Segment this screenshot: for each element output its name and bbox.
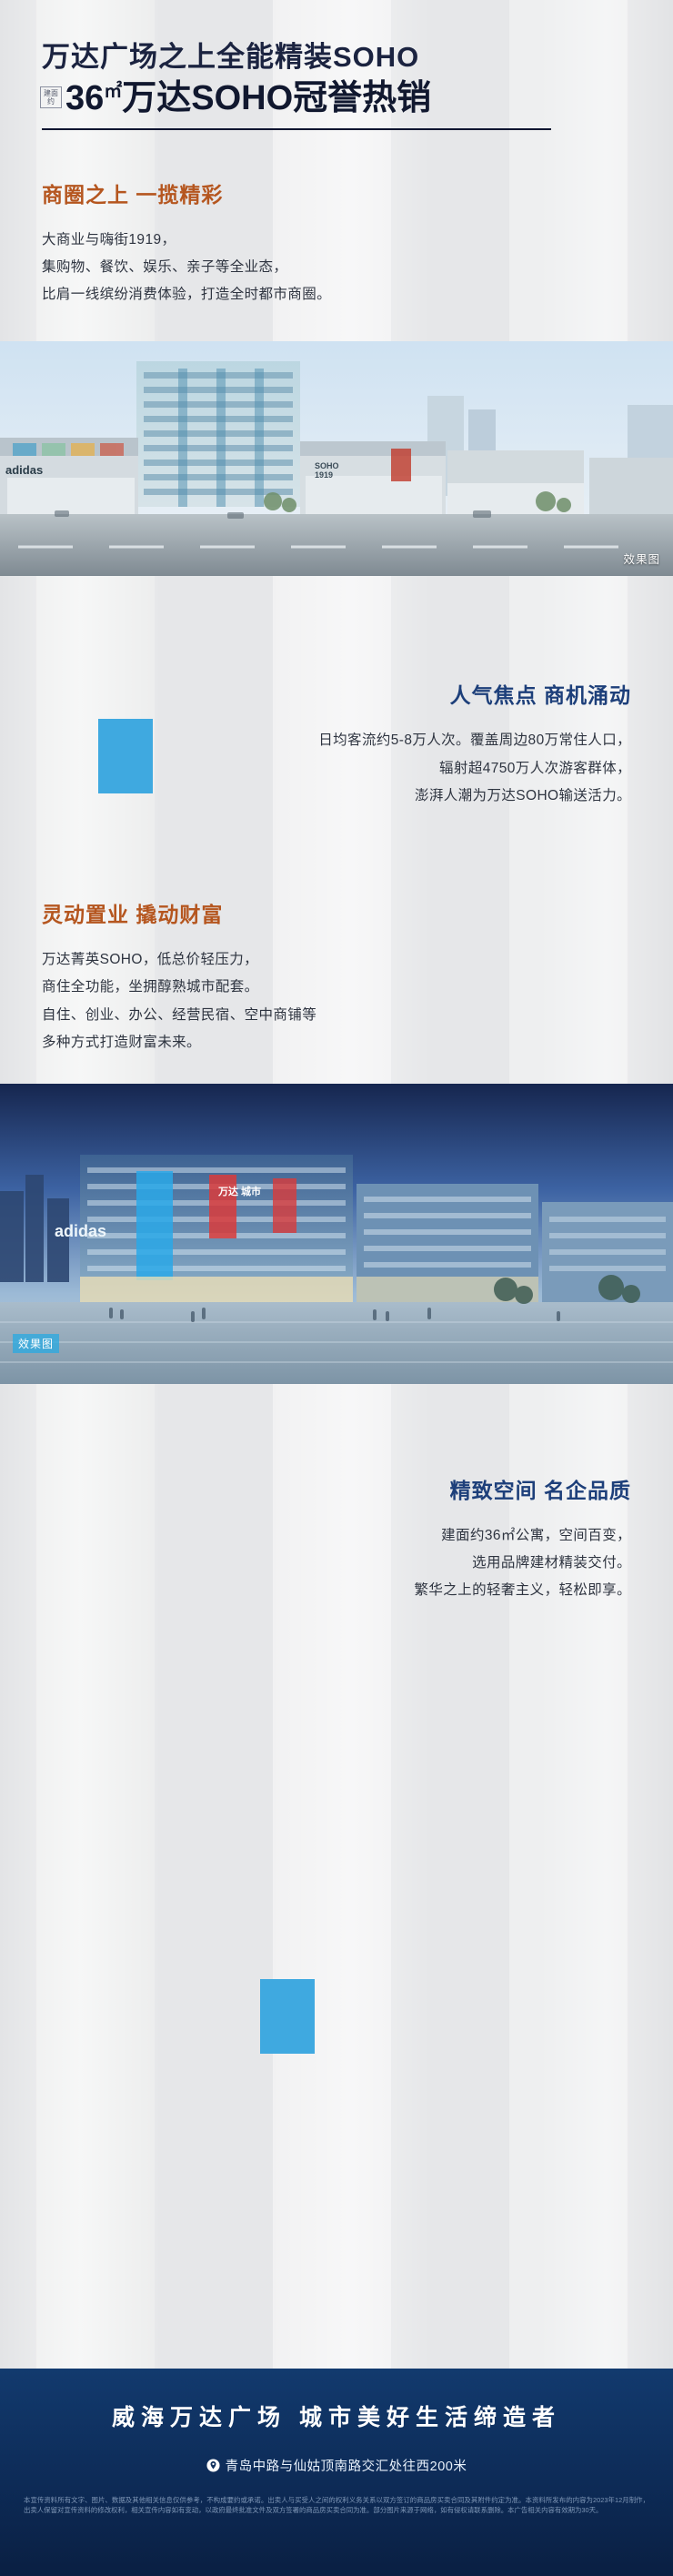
area-badge-line2: 约: [47, 97, 55, 106]
svg-text:adidas: adidas: [5, 463, 43, 477]
area-badge-line1: 建面: [44, 89, 58, 97]
headline-big-suffix: 万达SOHO冠誉热销: [122, 79, 431, 117]
poster-content: 万达广场之上全能精装SOHO 建面 约 36㎡万达SOHO冠誉热销 商圈之上 一…: [0, 0, 673, 1605]
svg-text:SOHO: SOHO: [315, 461, 339, 470]
image-1-caption: 效果图: [623, 550, 660, 567]
section-3: 灵动置业 撬动财富 万达菁英SOHO，低总价轻压力， 商住全功能，坐拥醇熟城市配…: [42, 897, 673, 1056]
section-3-line-3: 自住、创业、办公、经营民宿、空中商铺等: [42, 1002, 673, 1029]
footer-disclaimer: 本宣传资料所有文字、图片、数据及其他相关信息仅供参考，不构成要约或承诺。出卖人与…: [0, 2495, 673, 2516]
headline-primary: 万达广场之上全能精装SOHO: [42, 40, 673, 76]
section-2: 人气焦点 商机涌动 日均客流约5-8万人次。覆盖周边80万常住人口， 辐射超47…: [0, 678, 631, 810]
accent-chip-1: [98, 719, 153, 793]
svg-text:万达 城市: 万达 城市: [217, 1185, 261, 1197]
headline-area-number: 36: [65, 79, 104, 117]
headline-divider: [42, 128, 551, 130]
image-plaza-night: adidas 万达 城市: [0, 1084, 673, 1384]
section-2-line-1: 日均客流约5-8万人次。覆盖周边80万常住人口，: [0, 727, 631, 754]
image-plaza-daytime: adidas SOHO 1919: [0, 341, 673, 576]
accent-chip-2: [260, 1979, 315, 2054]
section-4: 精致空间 名企品质 建面约36㎡公寓，空间百变， 选用品牌建材精装交付。 繁华之…: [0, 1473, 631, 1605]
section-4-line-1: 建面约36㎡公寓，空间百变，: [0, 1522, 631, 1550]
section-1-line-2: 集购物、餐饮、娱乐、亲子等全业态，: [42, 254, 673, 281]
section-4-line-3: 繁华之上的轻奢主义，轻松即享。: [0, 1577, 631, 1604]
headline-secondary-row: 建面 约 36㎡万达SOHO冠誉热销: [40, 81, 673, 116]
section-2-body: 日均客流约5-8万人次。覆盖周边80万常住人口， 辐射超4750万人次游客群体，…: [0, 727, 631, 810]
plaza-daytime-illustration: adidas SOHO 1919: [0, 341, 673, 576]
section-1-body: 大商业与嗨街1919， 集购物、餐饮、娱乐、亲子等全业态， 比肩一线缤纷消费体验…: [42, 227, 673, 309]
poster-header: 万达广场之上全能精装SOHO 建面 约 36㎡万达SOHO冠誉热销: [0, 0, 673, 130]
section-3-line-2: 商住全功能，坐拥醇熟城市配套。: [42, 974, 673, 1001]
footer-slogan: 威海万达广场 城市美好生活缔造者: [0, 2369, 673, 2432]
section-3-body: 万达菁英SOHO，低总价轻压力， 商住全功能，坐拥醇熟城市配套。 自住、创业、办…: [42, 946, 673, 1056]
section-1: 商圈之上 一揽精彩 大商业与嗨街1919， 集购物、餐饮、娱乐、亲子等全业态， …: [42, 177, 673, 309]
poster-page: 万达广场之上全能精装SOHO 建面 约 36㎡万达SOHO冠誉热销 商圈之上 一…: [0, 0, 673, 2576]
section-4-line-2: 选用品牌建材精装交付。: [0, 1550, 631, 1577]
poster-footer: 威海万达广场 城市美好生活缔造者 青岛中路与仙姑顶南路交汇处往西200米 本宣传…: [0, 2369, 673, 2576]
section-4-body: 建面约36㎡公寓，空间百变， 选用品牌建材精装交付。 繁华之上的轻奢主义，轻松即…: [0, 1522, 631, 1605]
headline-big: 36㎡万达SOHO冠誉热销: [65, 81, 431, 116]
section-3-line-1: 万达菁英SOHO，低总价轻压力，: [42, 946, 673, 974]
svg-text:adidas: adidas: [55, 1222, 106, 1240]
plaza-daytime-render: adidas SOHO 1919: [0, 341, 673, 576]
section-1-title: 商圈之上 一揽精彩: [42, 177, 673, 208]
headline-area-unit: ㎡: [104, 81, 122, 101]
plaza-night-render: adidas 万达 城市: [0, 1084, 673, 1384]
section-1-line-1: 大商业与嗨街1919，: [42, 227, 673, 254]
footer-address-text: 青岛中路与仙姑顶南路交汇处往西200米: [226, 2456, 467, 2475]
section-2-line-3: 澎湃人潮为万达SOHO输送活力。: [0, 783, 631, 810]
section-1-line-3: 比肩一线缤纷消费体验，打造全时都市商圈。: [42, 281, 673, 308]
section-3-title: 灵动置业 撬动财富: [42, 897, 673, 928]
section-2-line-2: 辐射超4750万人次游客群体，: [0, 755, 631, 783]
location-pin-icon: [206, 2459, 220, 2472]
section-4-title: 精致空间 名企品质: [0, 1473, 631, 1504]
svg-text:1919: 1919: [315, 470, 333, 480]
footer-address-row: 青岛中路与仙姑顶南路交汇处往西200米: [0, 2456, 673, 2475]
image-2-caption-left: 效果图: [13, 1334, 59, 1353]
section-3-line-4: 多种方式打造财富未来。: [42, 1029, 673, 1056]
section-2-title: 人气焦点 商机涌动: [0, 678, 631, 709]
plaza-night-illustration: adidas 万达 城市: [0, 1084, 673, 1384]
area-badge: 建面 约: [40, 86, 62, 108]
